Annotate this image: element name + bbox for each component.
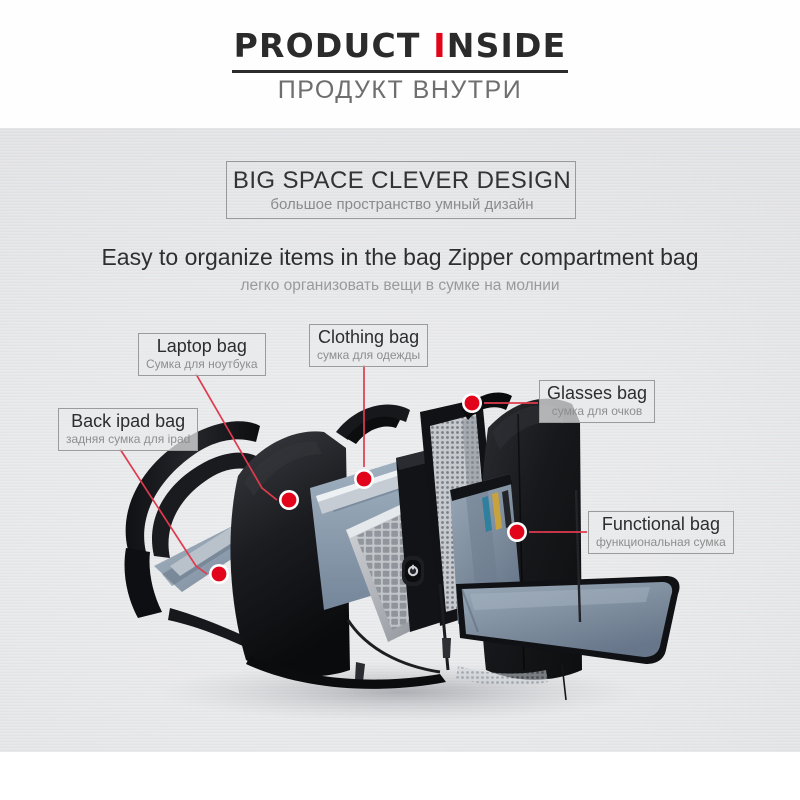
callout-clothing-bag-english: Clothing bag <box>317 327 420 348</box>
callout-clothing-bag[interactable]: Clothing bag сумка для одежды <box>309 324 428 367</box>
callout-functional-bag[interactable]: Functional bag функциональная сумка <box>588 511 734 554</box>
usb-port-module <box>402 556 424 586</box>
slogan-english: BIG SPACE CLEVER DESIGN <box>227 167 577 195</box>
callout-laptop-bag-russian: Сумка для ноутбука <box>146 357 258 371</box>
page-subtitle: ПРОДУКТ ВНУТРИ <box>0 76 800 105</box>
header-banner: PRODUCT INSIDE ПРОДУКТ ВНУТРИ <box>0 0 800 128</box>
title-divider <box>232 70 568 73</box>
title-part-1: PRODUCT <box>234 26 434 65</box>
title-part-2: NSIDE <box>447 26 567 65</box>
callout-back-ipad-bag-russian: задняя сумка для ipad <box>66 432 190 446</box>
lead-russian: легко организовать вещи в сумке на молни… <box>0 277 800 295</box>
callout-glasses-bag-russian: сумка для очков <box>547 404 647 418</box>
callout-laptop-bag-english: Laptop bag <box>146 336 258 357</box>
slogan-box: BIG SPACE CLEVER DESIGN большое простран… <box>226 161 576 219</box>
slogan-russian: большое пространство умный дизайн <box>227 196 577 213</box>
lead-english: Easy to organize items in the bag Zipper… <box>0 244 800 271</box>
callout-glasses-bag[interactable]: Glasses bag сумка для очков <box>539 380 655 423</box>
title-accent-letter: I <box>433 26 446 65</box>
callout-clothing-bag-russian: сумка для одежды <box>317 348 420 362</box>
callout-glasses-bag-english: Glasses bag <box>547 383 647 404</box>
strap-padding <box>125 548 163 618</box>
callout-back-ipad-bag-english: Back ipad bag <box>66 411 190 432</box>
callout-laptop-bag[interactable]: Laptop bag Сумка для ноутбука <box>138 333 266 376</box>
callout-functional-bag-english: Functional bag <box>596 514 726 535</box>
infographic-page: PRODUCT INSIDE ПРОДУКТ ВНУТРИ BIG SPACE … <box>0 0 800 800</box>
bottom-margin <box>0 752 800 800</box>
page-title: PRODUCT INSIDE <box>0 26 800 65</box>
zipper-pull-front <box>442 638 451 658</box>
callout-back-ipad-bag[interactable]: Back ipad bag задняя сумка для ipad <box>58 408 198 451</box>
callout-functional-bag-russian: функциональная сумка <box>596 535 726 549</box>
